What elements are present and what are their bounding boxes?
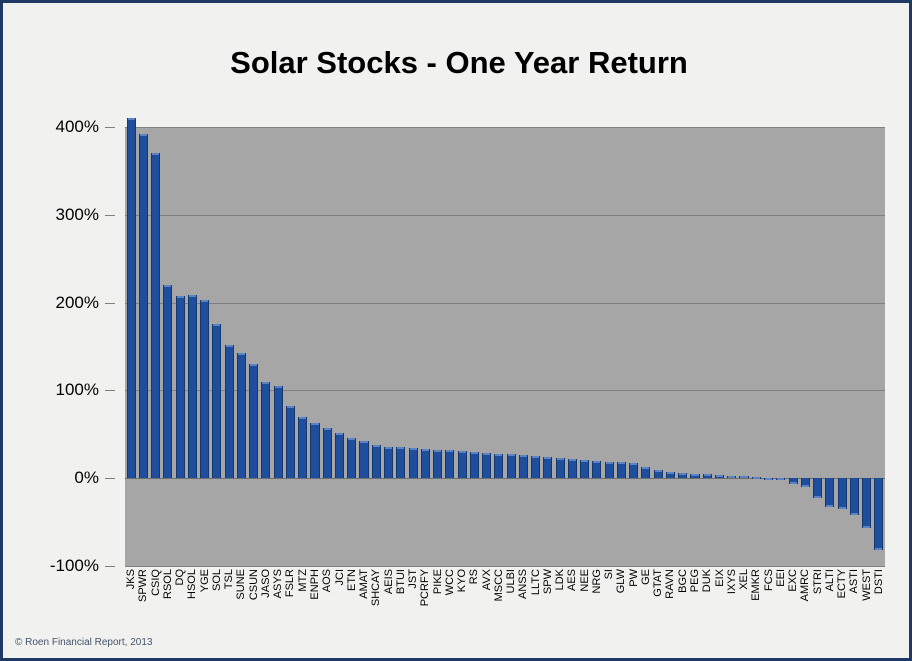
bar-highlight [765, 478, 772, 480]
x-axis-tick-label: SHCAY [370, 569, 382, 606]
x-axis-tick-label: PW [628, 569, 640, 587]
bar [433, 450, 442, 478]
bar-highlight [581, 460, 588, 462]
bar-highlight [311, 423, 318, 425]
x-axis-tick-label: GLW [615, 569, 627, 593]
bar [249, 364, 258, 478]
bar [409, 448, 418, 478]
x-axis-tick-label: NRG [591, 569, 603, 593]
x-axis-tick-label: JCI [334, 569, 346, 586]
x-axis-tick-label: AVX [481, 569, 493, 590]
bar [776, 478, 785, 480]
bar [568, 459, 577, 478]
x-axis-tick-label: LLTC [530, 569, 542, 595]
bar-highlight [152, 153, 159, 155]
x-axis-tick-label: ASTI [848, 569, 860, 593]
x-axis-tick-label: AOS [321, 569, 333, 592]
bar [838, 478, 847, 509]
bar-highlight [324, 428, 331, 430]
bar [654, 470, 663, 478]
x-axis-tick-label: WEST [861, 569, 873, 601]
x-axis-tick-label: ALTI [824, 569, 836, 591]
bar [310, 423, 319, 478]
bar [372, 445, 381, 478]
x-axis-tick-label: RS [468, 569, 480, 584]
bar-highlight [226, 345, 233, 347]
bar-highlight [863, 526, 870, 528]
bar-highlight [569, 459, 576, 461]
y-axis-tick-label: 400% [56, 117, 99, 137]
bar-highlight [397, 447, 404, 449]
x-axis-tick-label: STRI [812, 569, 824, 594]
bar-highlight [177, 296, 184, 298]
x-axis-tick-label: MSCC [493, 569, 505, 601]
bar-highlight [373, 445, 380, 447]
bar-highlight [164, 285, 171, 287]
x-axis-tick-label: HSOL [186, 569, 198, 599]
x-axis-tick-label: DSTI [873, 569, 885, 594]
bar [641, 467, 650, 478]
bar-highlight [336, 433, 343, 435]
x-axis-tick-label: LDK [554, 569, 566, 590]
x-axis-tick-label: AES [566, 569, 578, 591]
y-axis-tick-mark [105, 127, 115, 128]
bar-highlight [140, 134, 147, 136]
bar [519, 455, 528, 478]
y-axis-tick-label: 100% [56, 380, 99, 400]
bar [151, 153, 160, 478]
x-axis-tick-label: WCC [444, 569, 456, 595]
bar [274, 386, 283, 478]
bar-highlight [508, 454, 515, 456]
y-axis-tick-mark [105, 303, 115, 304]
x-axis-tick-label: DQ [174, 569, 186, 586]
bar-highlight [790, 482, 797, 484]
x-axis-tick-label: RSOL [162, 569, 174, 599]
bar-highlight [544, 457, 551, 459]
bar-highlight [593, 461, 600, 463]
bar [261, 382, 270, 479]
x-axis-tick-label: GE [640, 569, 652, 585]
bar-series [125, 127, 885, 566]
y-axis-tick-label: 300% [56, 205, 99, 225]
x-axis-tick-label: PEG [689, 569, 701, 592]
bar-highlight [716, 475, 723, 477]
bar [359, 441, 368, 478]
bar-highlight [691, 474, 698, 476]
bar [347, 438, 356, 478]
bar [188, 295, 197, 479]
bar-highlight [275, 386, 282, 388]
x-axis-tick-label: AMAT [358, 569, 370, 599]
x-axis-tick-label: JASO [260, 569, 272, 598]
page-title: Solar Stocks - One Year Return [3, 45, 912, 81]
x-axis-tick-label: PCRFY [419, 569, 431, 606]
x-axis-tick-label: MTZ [297, 569, 309, 592]
bar [335, 433, 344, 479]
bar-highlight [213, 324, 220, 326]
bar [690, 474, 699, 478]
bar-highlight [385, 447, 392, 449]
bar-highlight [630, 463, 637, 465]
bar [813, 478, 822, 497]
bar-highlight [814, 496, 821, 498]
x-axis-tick-label: SPW [542, 569, 554, 594]
bar-highlight [606, 462, 613, 464]
bar [617, 462, 626, 478]
x-axis-tick-label: FSLR [284, 569, 296, 597]
x-axis-tick-label: RAVN [664, 569, 676, 599]
x-axis-tick-label: DUK [701, 569, 713, 592]
x-axis-tick-label: ETN [346, 569, 358, 591]
x-axis-tick-label: IXYS [726, 569, 738, 594]
x-axis-tick-label: YGE [199, 569, 211, 592]
y-axis-tick-mark [105, 215, 115, 216]
bar [445, 450, 454, 478]
x-axis-tick-label: EXC [787, 569, 799, 592]
bar [384, 447, 393, 479]
x-axis-tick-label: CSUN [248, 569, 260, 600]
x-axis-tick-label: ASYS [272, 569, 284, 598]
bar [163, 285, 172, 478]
bar-highlight [189, 295, 196, 297]
x-axis-tick-label: SUNE [235, 569, 247, 600]
x-axis: JKSSPWRCSIQRSOLDQHSOLYGESOLTSLSUNECSUNJA… [125, 569, 885, 627]
bar-highlight [128, 118, 135, 120]
x-axis-tick-label: FCS [763, 569, 775, 591]
bar-highlight [802, 485, 809, 487]
bar-highlight [238, 353, 245, 355]
x-axis-tick-label: BTUI [395, 569, 407, 594]
bar-highlight [618, 462, 625, 464]
bar [715, 475, 724, 479]
bar-highlight [532, 456, 539, 458]
x-axis-tick-label: AMRC [799, 569, 811, 601]
bar [850, 478, 859, 515]
x-axis-tick-label: ULBI [505, 569, 517, 593]
bar [212, 324, 221, 479]
bar [580, 460, 589, 478]
bar-highlight [851, 513, 858, 515]
bar-highlight [459, 451, 466, 453]
bar [286, 406, 295, 478]
x-axis-tick-label: KYO [456, 569, 468, 592]
bar [862, 478, 871, 528]
bar-highlight [471, 452, 478, 454]
bar-highlight [557, 458, 564, 460]
plot-area [125, 127, 885, 566]
bar [605, 462, 614, 479]
bar [592, 461, 601, 479]
bar [556, 458, 565, 478]
x-axis-tick-label: EEI [775, 569, 787, 587]
bar-highlight [483, 453, 490, 455]
bar [458, 451, 467, 478]
bar [629, 463, 638, 478]
bar [323, 428, 332, 478]
bar [494, 454, 503, 479]
bar [237, 353, 246, 479]
y-axis-tick-mark [105, 390, 115, 391]
bar [470, 452, 479, 478]
x-axis-tick-label: BGC [677, 569, 689, 593]
bar-highlight [728, 476, 735, 478]
x-axis-tick-label: ENPH [309, 569, 321, 600]
bar-highlight [434, 450, 441, 452]
x-axis-tick-label: EIX [714, 569, 726, 587]
bar [752, 477, 761, 479]
bar-highlight [250, 364, 257, 366]
bar [225, 345, 234, 478]
x-axis-tick-label: GTAT [652, 569, 664, 597]
bar-highlight [520, 455, 527, 457]
x-axis-tick-label: PIKE [432, 569, 444, 594]
y-axis-tick-label: 0% [74, 468, 99, 488]
bar [482, 453, 491, 478]
bar-highlight [262, 382, 269, 384]
bar-highlight [777, 478, 784, 480]
y-axis-tick-label: -100% [50, 556, 99, 576]
bar [543, 457, 552, 478]
x-axis-tick-label: SOL [211, 569, 223, 591]
bar-highlight [642, 467, 649, 469]
bar [176, 296, 185, 478]
x-axis-tick-label: JST [407, 569, 419, 589]
bar-highlight [704, 474, 711, 476]
bar [507, 454, 516, 478]
bar [421, 449, 430, 478]
bar [739, 476, 748, 478]
copyright-notice: © Roen Financial Report, 2013 [15, 637, 152, 648]
bar-highlight [839, 507, 846, 509]
bar-highlight [360, 441, 367, 443]
chart-container: Solar Stocks - One Year Return 400%300%2… [0, 0, 912, 661]
bar-highlight [446, 450, 453, 452]
bar-highlight [348, 438, 355, 440]
bar-highlight [422, 449, 429, 451]
bar-highlight [655, 470, 662, 472]
x-axis-tick-label: SI [603, 569, 615, 579]
bar [703, 474, 712, 478]
y-axis-tick-mark [105, 478, 115, 479]
bar [789, 478, 798, 484]
bar [127, 118, 136, 478]
bar [678, 473, 687, 478]
bar [396, 447, 405, 478]
bar [298, 417, 307, 478]
x-axis-tick-label: ANSS [517, 569, 529, 599]
bar-highlight [410, 448, 417, 450]
x-axis-tick-label: EMKR [750, 569, 762, 601]
y-axis-tick-label: 200% [56, 293, 99, 313]
bar-highlight [287, 406, 294, 408]
y-axis: 400%300%200%100%0%-100% [3, 127, 115, 566]
bar [666, 472, 675, 478]
x-axis-tick-label: SPWR [137, 569, 149, 602]
x-axis-tick-label: TSL [223, 569, 235, 589]
bar [764, 478, 773, 480]
y-axis-tick-mark [105, 566, 115, 567]
x-axis-tick-label: ECTY [836, 569, 848, 598]
bar [139, 134, 148, 478]
bar [801, 478, 810, 487]
bar-highlight [679, 473, 686, 475]
bar-highlight [875, 548, 882, 550]
bar [200, 300, 209, 478]
bar-highlight [667, 472, 674, 474]
x-axis-tick-label: NEE [579, 569, 591, 592]
bar [727, 476, 736, 479]
x-axis-tick-label: CSIQ [150, 569, 162, 596]
bar-highlight [740, 476, 747, 478]
bar [825, 478, 834, 507]
gridline [125, 566, 885, 567]
bar-highlight [753, 477, 760, 479]
bar-highlight [299, 417, 306, 419]
bar-highlight [201, 300, 208, 302]
bar-highlight [826, 505, 833, 507]
bar [874, 478, 883, 550]
bar [531, 456, 540, 478]
x-axis-tick-label: XEL [738, 569, 750, 590]
x-axis-tick-label: JKS [125, 569, 137, 589]
x-axis-tick-label: AEIS [383, 569, 395, 594]
bar-highlight [495, 454, 502, 456]
